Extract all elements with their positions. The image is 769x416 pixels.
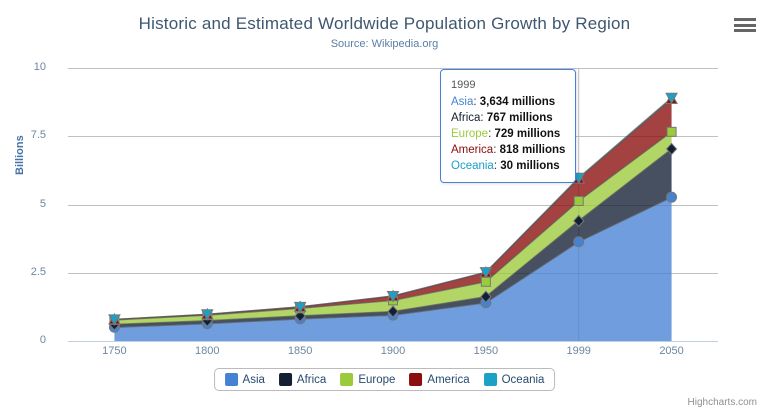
tooltip-series-value: 3,634 millions: [480, 96, 555, 108]
marker-europe[interactable]: [667, 127, 676, 136]
marker-asia[interactable]: [574, 237, 584, 247]
y-axis-tick-label: 0: [0, 334, 46, 346]
menu-bar-3: [734, 29, 756, 32]
legend-swatch-icon: [409, 373, 422, 386]
legend-swatch-icon: [225, 373, 238, 386]
legend-label: Oceania: [502, 374, 545, 386]
hamburger-menu-icon[interactable]: [734, 16, 756, 34]
tooltip-row: Europe: 729 millions: [451, 126, 565, 142]
tooltip-series-value: 818 millions: [500, 144, 566, 156]
legend-label: Europe: [358, 374, 395, 386]
tooltip-series-name: Europe: [451, 128, 488, 140]
tooltip-series-value: 729 millions: [494, 128, 560, 140]
legend-swatch-icon: [484, 373, 497, 386]
menu-bar-1: [734, 18, 756, 21]
marker-asia[interactable]: [667, 192, 677, 202]
y-axis-tick-label: 5: [0, 198, 46, 210]
tooltip-series-name: America: [451, 144, 493, 156]
tooltip-series-value: 767 millions: [487, 112, 553, 124]
x-axis-line: [68, 341, 718, 342]
legend-item-africa[interactable]: Africa: [279, 373, 326, 386]
tooltip-row: Oceania: 30 millions: [451, 158, 565, 174]
chart-subtitle: Source: Wikipedia.org: [0, 38, 769, 50]
legend-item-asia[interactable]: Asia: [225, 373, 265, 386]
x-axis-tick-label: 2050: [642, 345, 702, 357]
x-axis-tick-label: 1900: [363, 345, 423, 357]
legend-swatch-icon: [279, 373, 292, 386]
legend-item-america[interactable]: America: [409, 373, 469, 386]
menu-bar-2: [734, 24, 756, 27]
x-axis-tick-label: 1950: [456, 345, 516, 357]
legend-item-europe[interactable]: Europe: [340, 373, 395, 386]
tooltip-series-name: Africa: [451, 112, 480, 124]
tooltip-row: Africa: 767 millions: [451, 110, 565, 126]
marker-europe[interactable]: [574, 196, 583, 205]
tooltip-header: 1999: [451, 77, 565, 94]
tooltip: 1999 Asia: 3,634 millionsAfrica: 767 mil…: [440, 69, 576, 183]
tooltip-rows: Asia: 3,634 millionsAfrica: 767 millions…: [451, 94, 565, 174]
tooltip-series-value: 30 millions: [500, 160, 559, 172]
tooltip-series-name: Asia: [451, 96, 473, 108]
x-axis-tick-label: 1750: [84, 345, 144, 357]
tooltip-series-name: Oceania: [451, 160, 494, 172]
x-axis-tick-label: 1850: [270, 345, 330, 357]
legend-label: America: [427, 374, 469, 386]
chart-container: Historic and Estimated Worldwide Populat…: [0, 0, 769, 416]
highcharts-credit[interactable]: Highcharts.com: [688, 397, 757, 408]
x-axis-tick-label: 1800: [177, 345, 237, 357]
chart-legend: AsiaAfricaEuropeAmericaOceania: [214, 368, 556, 391]
legend-swatch-icon: [340, 373, 353, 386]
legend-label: Asia: [243, 374, 265, 386]
legend-label: Africa: [297, 374, 326, 386]
chart-plot-area: [68, 68, 718, 341]
y-axis-tick-label: 10: [0, 61, 46, 73]
chart-title: Historic and Estimated Worldwide Populat…: [0, 14, 769, 34]
tooltip-row: Asia: 3,634 millions: [451, 94, 565, 110]
x-axis-tick-label: 1999: [549, 345, 609, 357]
y-axis-tick-label: 2.5: [0, 266, 46, 278]
y-axis-tick-label: 7.5: [0, 129, 46, 141]
legend-item-oceania[interactable]: Oceania: [484, 373, 545, 386]
tooltip-row: America: 818 millions: [451, 142, 565, 158]
